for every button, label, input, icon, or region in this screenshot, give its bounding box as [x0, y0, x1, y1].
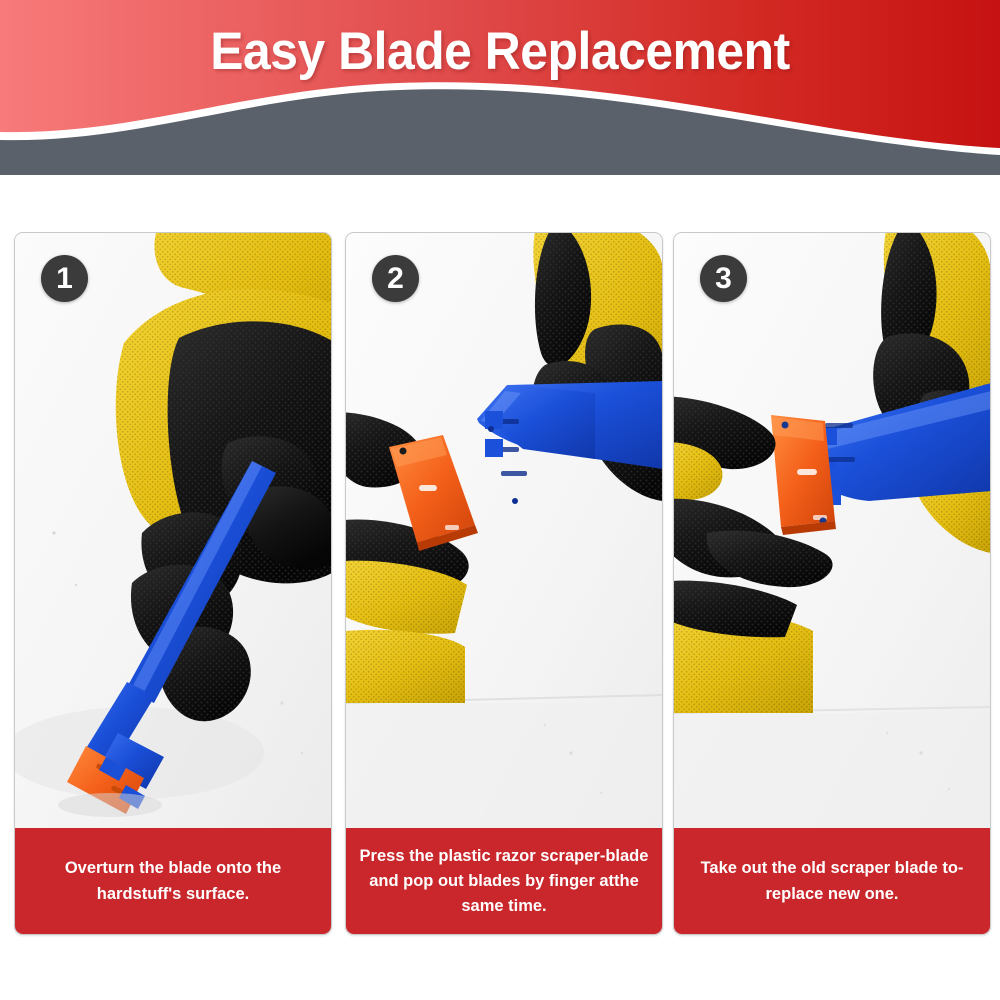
page-title: Easy Blade Replacement [30, 18, 970, 86]
step-caption-2: Press the plastic razor scraper-blade an… [346, 828, 662, 934]
step-panel-3[interactable]: 3 Take out the old scraper blade to-repl… [673, 232, 991, 935]
step-photo-3: 3 [674, 233, 990, 830]
step-badge-2: 2 [372, 255, 419, 302]
steps-container: 1 Overturn the blade onto the hardstuff'… [0, 232, 1000, 938]
infographic-page: Easy Blade Replacement [0, 0, 1000, 1000]
glove-scraper-illustration-1 [15, 233, 331, 830]
step-badge-1: 1 [41, 255, 88, 302]
step-panel-1[interactable]: 1 Overturn the blade onto the hardstuff'… [14, 232, 332, 935]
glove-scraper-illustration-2 [346, 233, 662, 830]
step-caption-1: Overturn the blade onto the hardstuff's … [15, 828, 331, 934]
glove-scraper-illustration-3 [674, 233, 990, 830]
step-photo-2: 2 [346, 233, 662, 830]
step-caption-3: Take out the old scraper blade to-replac… [674, 828, 990, 934]
header-banner: Easy Blade Replacement [0, 0, 1000, 175]
step-photo-1: 1 [15, 233, 331, 830]
step-panel-2[interactable]: 2 Press the plastic razor scraper-blade … [345, 232, 663, 935]
step-badge-3: 3 [700, 255, 747, 302]
